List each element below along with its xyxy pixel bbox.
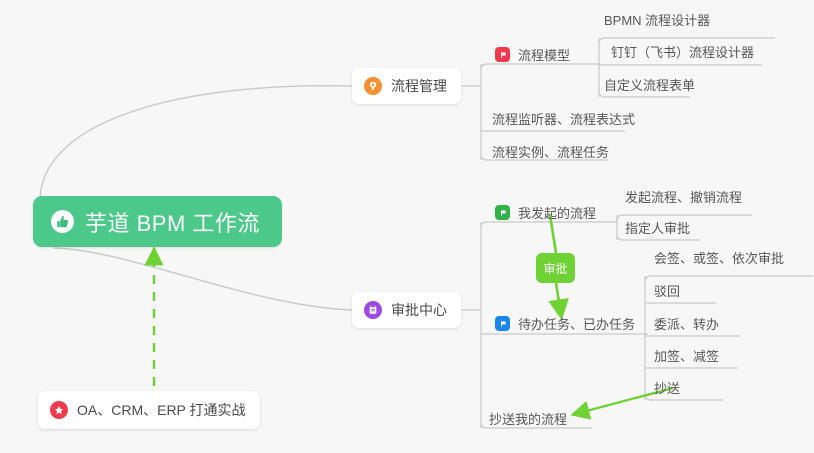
root-label: 芋道 BPM 工作流 [85,206,260,238]
bracket-todo-done-top [645,276,813,282]
curve-root-to-process-mgmt [40,86,352,198]
branch-label-process-mgmt: 流程管理 [391,76,447,96]
sub-label-my-initiated: 我发起的流程 [518,203,596,222]
leaf-bpmn-designer[interactable]: BPMN 流程设计器 [604,13,710,29]
bracket-approval-center [462,222,481,428]
star-icon [50,401,68,419]
leaf-start-cancel-process[interactable]: 发起流程、撤销流程 [625,190,742,206]
leaf-reject[interactable]: 驳回 [654,284,680,300]
branch-label-approval-center: 审批中心 [391,300,447,320]
approval-badge: 审批 [536,253,575,283]
bracket-process-model-top [599,38,775,44]
sub-node-todo-done[interactable]: 待办任务、已办任务 [495,314,635,333]
arrow-approval-flow-lower [556,283,561,315]
bracket-todo-done [640,276,648,400]
approval-badge-label: 审批 [543,260,567,277]
bracket-process-model [580,38,599,97]
bracket-approval-center-top [481,222,600,228]
clipboard-icon [364,301,382,319]
leaf-process-instance-task[interactable]: 流程实例、流程任务 [492,145,609,161]
mindmap-canvas: 芋道 BPM 工作流 流程管理 审批中心 [0,0,814,453]
leaf-dingtalk-feishu-designer[interactable]: 钉钉（飞书）流程设计器 [611,45,754,61]
curve-root-to-approval-center [54,248,352,310]
thumbs-up-icon [51,210,74,233]
bracket-process-mgmt [462,64,481,160]
sub-label-todo-done: 待办任务、已办任务 [518,314,635,333]
sub-node-my-initiated[interactable]: 我发起的流程 [495,203,596,222]
branch-node-process-mgmt[interactable]: 流程管理 [352,68,461,104]
bracket-process-mgmt-corner-top [481,64,580,70]
root-node[interactable]: 芋道 BPM 工作流 [33,196,282,247]
leaf-cc-to-me-process[interactable]: 抄送我的流程 [489,412,567,428]
leaf-custom-process-form[interactable]: 自定义流程表单 [604,78,695,94]
note-node-oa-crm-erp[interactable]: OA、CRM、ERP 打通实战 [38,391,260,429]
flag-icon [495,47,510,62]
lightbulb-icon [364,77,382,95]
leaf-add-remove-sign[interactable]: 加签、减签 [654,349,719,365]
note-label-oa-crm-erp: OA、CRM、ERP 打通实战 [77,400,246,420]
sub-node-process-model[interactable]: 流程模型 [495,45,570,64]
leaf-countersign-orsign-sequential[interactable]: 会签、或签、依次审批 [654,251,784,267]
leaf-cc[interactable]: 抄送 [654,381,680,397]
flag-icon [495,316,510,331]
leaf-delegate-transfer[interactable]: 委派、转办 [654,317,719,333]
branch-node-approval-center[interactable]: 审批中心 [352,292,461,328]
flag-icon [495,205,510,220]
leaf-process-listener-expression[interactable]: 流程监听器、流程表达式 [492,112,635,128]
bracket-my-initiated [600,215,617,240]
leaf-assignee-approval[interactable]: 指定人审批 [625,221,690,237]
sub-label-process-model: 流程模型 [518,45,570,64]
